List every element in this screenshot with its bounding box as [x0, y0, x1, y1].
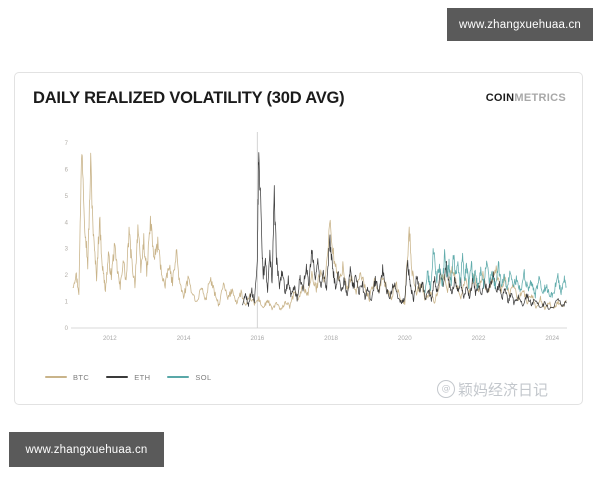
x-axis-tick-label: 2020	[398, 335, 412, 342]
y-axis-tick-label: 4	[65, 220, 69, 226]
series-line-btc	[73, 153, 566, 310]
legend-item-sol[interactable]: SOL	[167, 373, 211, 382]
watermark-author: @ 颖妈经济日记	[437, 378, 589, 400]
author-badge-icon: @	[437, 380, 455, 398]
y-axis-tick-label: 0	[65, 326, 69, 332]
legend-label-sol: SOL	[195, 373, 211, 382]
brand-bold: COIN	[486, 92, 515, 104]
volatility-line-chart: 012345672012201420162018202020222024	[59, 128, 571, 350]
y-axis-tick-label: 7	[65, 141, 69, 147]
legend-swatch-sol	[167, 376, 189, 378]
y-axis-tick-label: 3	[65, 247, 69, 253]
chart-legend: BTCETHSOL	[45, 369, 212, 385]
y-axis-tick-label: 6	[65, 167, 69, 173]
y-axis-tick-label: 2	[65, 273, 69, 279]
chart-header: DAILY REALIZED VOLATILITY (30D AVG) COIN…	[15, 81, 582, 115]
legend-swatch-btc	[45, 376, 67, 378]
y-axis-tick-label: 5	[65, 194, 69, 200]
brand-light: METRICS	[514, 92, 566, 104]
page-title: DAILY REALIZED VOLATILITY (30D AVG)	[33, 89, 344, 108]
author-watermark-text: 颖妈经济日记	[458, 379, 548, 400]
x-axis-tick-label: 2016	[250, 335, 264, 342]
legend-item-eth[interactable]: ETH	[106, 373, 150, 382]
watermark-top-right: www.zhangxuehuaa.cn	[447, 8, 593, 41]
legend-label-btc: BTC	[73, 373, 89, 382]
legend-label-eth: ETH	[134, 373, 150, 382]
y-axis-tick-label: 1	[65, 300, 69, 306]
x-axis-tick-label: 2014	[177, 335, 191, 342]
x-axis-tick-label: 2022	[472, 335, 486, 342]
x-axis-tick-label: 2018	[324, 335, 338, 342]
x-axis-tick-label: 2024	[545, 335, 559, 342]
coinmetrics-logo: COINMETRICS	[486, 92, 566, 104]
legend-swatch-eth	[106, 376, 128, 378]
series-line-eth	[243, 153, 567, 310]
chart-card: DAILY REALIZED VOLATILITY (30D AVG) COIN…	[14, 72, 583, 405]
watermark-bottom-left: www.zhangxuehuaa.cn	[9, 432, 164, 467]
plot-area: 012345672012201420162018202020222024	[59, 128, 571, 350]
x-axis-tick-label: 2012	[103, 335, 117, 342]
legend-item-btc[interactable]: BTC	[45, 373, 89, 382]
